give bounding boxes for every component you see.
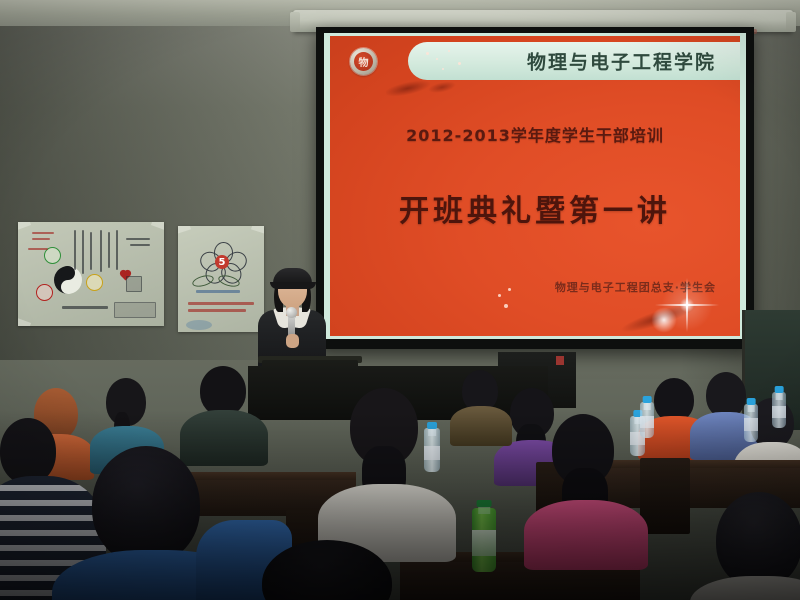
speck [436, 58, 438, 60]
seal-glyph: 物 [354, 52, 373, 71]
bench-back [640, 458, 690, 534]
head [716, 492, 800, 588]
poster-note [126, 238, 150, 240]
speaker-hand [286, 334, 299, 348]
slide-main-title: 开班典礼暨第一讲 [330, 186, 740, 230]
poster-calligraphy [116, 230, 118, 270]
tape [251, 226, 264, 234]
poster-note [130, 244, 150, 246]
audience-student-front-right [700, 492, 800, 600]
head [92, 446, 200, 564]
poster-heading-ink [32, 238, 50, 240]
slide-header: 物理与电子工程学院 物 [330, 42, 740, 80]
head [262, 540, 392, 600]
head [0, 418, 56, 484]
star-flare-secondary-icon [644, 300, 684, 336]
poster-node-yellow [86, 274, 103, 291]
projection-screen: 物理与电子工程学院 物 2012-2013学年度学生干部培训 开班典礼暨第一讲 … [316, 27, 754, 349]
slide-header-title: 物理与电子工程学院 [527, 48, 716, 75]
tape [18, 318, 31, 326]
microphone-head-icon [286, 307, 297, 318]
speck [426, 52, 429, 55]
poster-calligraphy [82, 230, 84, 274]
poster-caption [62, 306, 108, 309]
speck [448, 50, 450, 52]
poster-caption [196, 290, 240, 293]
poster-text [188, 309, 246, 312]
poster-box [126, 276, 142, 292]
audience-student-foreground [262, 540, 392, 600]
tape [18, 222, 31, 230]
slide-subtitle: 2012-2013学年度学生干部培训 [330, 122, 740, 146]
wall-poster-flower: 5 [178, 226, 264, 332]
audience-student-white-top [328, 388, 444, 556]
head [200, 366, 246, 416]
poster-text [188, 302, 254, 305]
tape [151, 222, 164, 230]
tape [178, 226, 191, 234]
poster-calligraphy [100, 230, 102, 272]
leaf-icon [191, 273, 215, 289]
water-bottle-right[interactable] [744, 398, 758, 442]
poster-calligraphy [74, 230, 76, 270]
audience-student-pink-hoodie [528, 414, 638, 564]
speck [508, 288, 511, 291]
audience-student-far [452, 370, 508, 440]
shoulders [524, 500, 648, 570]
presentation-slide: 物理与电子工程学院 物 2012-2013学年度学生干部培训 开班典礼暨第一讲 … [330, 36, 740, 336]
shoulders [690, 576, 800, 600]
shoulders [450, 406, 512, 446]
lecture-hall-photo: 物理与电子工程学院 物 2012-2013学年度学生干部培训 开班典礼暨第一讲 … [0, 0, 800, 600]
flower-center-number: 5 [215, 255, 229, 269]
wall-poster-yinyang [18, 222, 164, 326]
roller-end-cap [786, 12, 796, 32]
poster-heading-ink [28, 248, 48, 250]
speck [504, 304, 508, 308]
water-bottle-mid[interactable] [640, 396, 654, 438]
poster-calligraphy [90, 232, 92, 270]
poster-signature-box [114, 302, 156, 318]
poster-node-red [36, 284, 53, 301]
green-tea-bottle[interactable] [472, 500, 496, 572]
poster-doodle [186, 320, 212, 330]
speck [442, 68, 444, 70]
yin-yang-icon [54, 266, 82, 294]
panel-indicator [556, 356, 564, 365]
speck [498, 294, 501, 297]
roller-end-cap [290, 12, 300, 32]
university-seal-icon: 物 [350, 48, 377, 75]
speck [458, 62, 461, 65]
speaker-cap-brim [270, 282, 316, 289]
poster-calligraphy [108, 232, 110, 268]
ink-splash-graphic [380, 45, 476, 112]
poster-heading-ink [32, 232, 54, 234]
water-bottle-far-right[interactable] [772, 386, 786, 428]
screen-surface: 物理与电子工程学院 物 2012-2013学年度学生干部培训 开班典礼暨第一讲 … [324, 33, 746, 339]
